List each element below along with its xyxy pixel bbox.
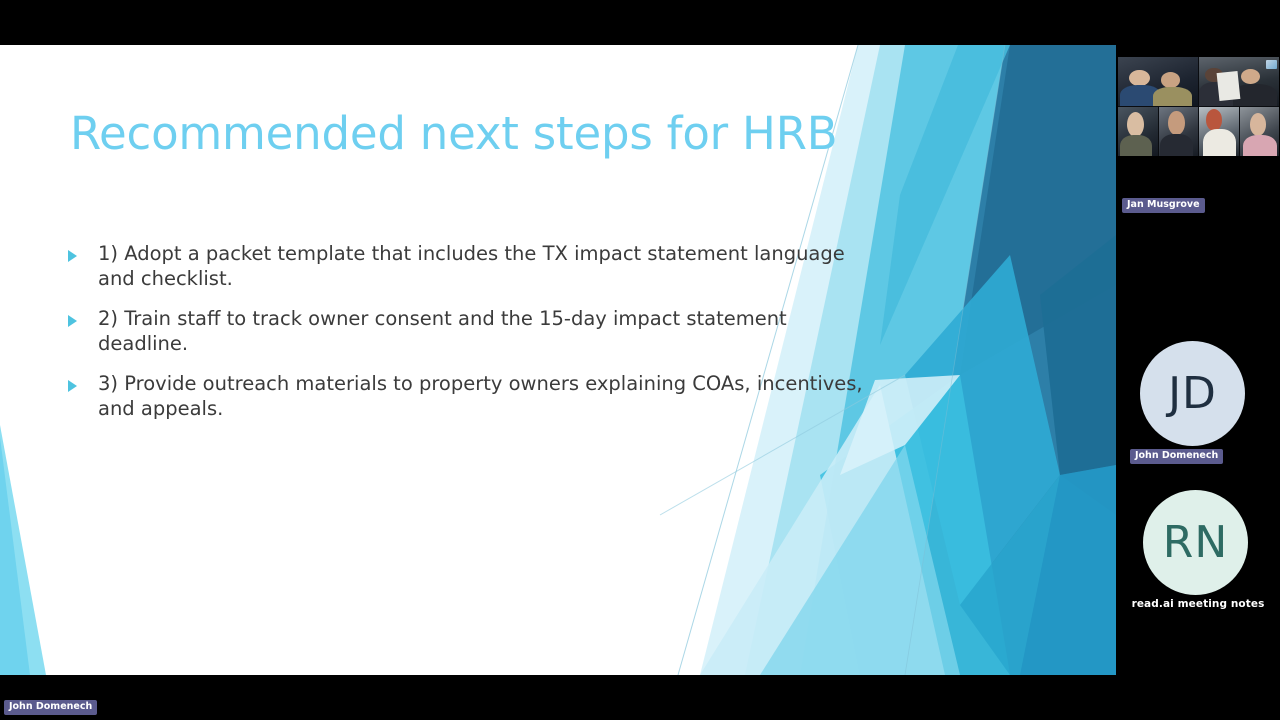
active-speaker-name-badge: Jan Musgrove (1122, 198, 1205, 213)
avatar[interactable]: RN (1143, 490, 1248, 595)
list-item-text: 1) Adopt a packet template that includes… (98, 241, 868, 291)
participant-pane-4[interactable] (1159, 107, 1200, 156)
participant-name-label: read.ai meeting notes (1116, 598, 1280, 610)
list-item: 3) Provide outreach materials to propert… (68, 371, 868, 421)
page-title: Recommended next steps for HRB (70, 107, 837, 160)
meeting-screen-share: Recommended next steps for HRB 1) Adopt … (0, 0, 1280, 720)
participant-rail: Jan Musgrove JD John Domenech RN read.ai… (1116, 0, 1280, 720)
list-item: 1) Adopt a packet template that includes… (68, 241, 868, 291)
participant-pane-3[interactable] (1118, 107, 1159, 156)
participant-pane-5[interactable] (1199, 107, 1240, 156)
group-video-tile[interactable] (1118, 57, 1279, 156)
participant-pane-2[interactable] (1199, 57, 1279, 106)
triangle-bullet-icon (68, 306, 98, 327)
video-grid-row (1118, 57, 1279, 107)
triangle-bullet-icon (68, 371, 98, 392)
triangle-bullet-icon (68, 241, 98, 262)
participant-pane-1[interactable] (1118, 57, 1199, 106)
video-corner-accent (1266, 60, 1277, 69)
participant-name-badge: John Domenech (1130, 449, 1223, 464)
video-grid (1118, 57, 1279, 156)
avatar[interactable]: JD (1140, 341, 1245, 446)
active-speaker-overlay-badge: John Domenech (4, 700, 97, 715)
list-item-text: 2) Train staff to track owner consent an… (98, 306, 868, 356)
bullet-list: 1) Adopt a packet template that includes… (68, 241, 868, 436)
list-item: 2) Train staff to track owner consent an… (68, 306, 868, 356)
shared-slide[interactable]: Recommended next steps for HRB 1) Adopt … (0, 45, 1116, 675)
participant-pane-6[interactable] (1240, 107, 1280, 156)
video-grid-row (1118, 107, 1279, 156)
list-item-text: 3) Provide outreach materials to propert… (98, 371, 868, 421)
